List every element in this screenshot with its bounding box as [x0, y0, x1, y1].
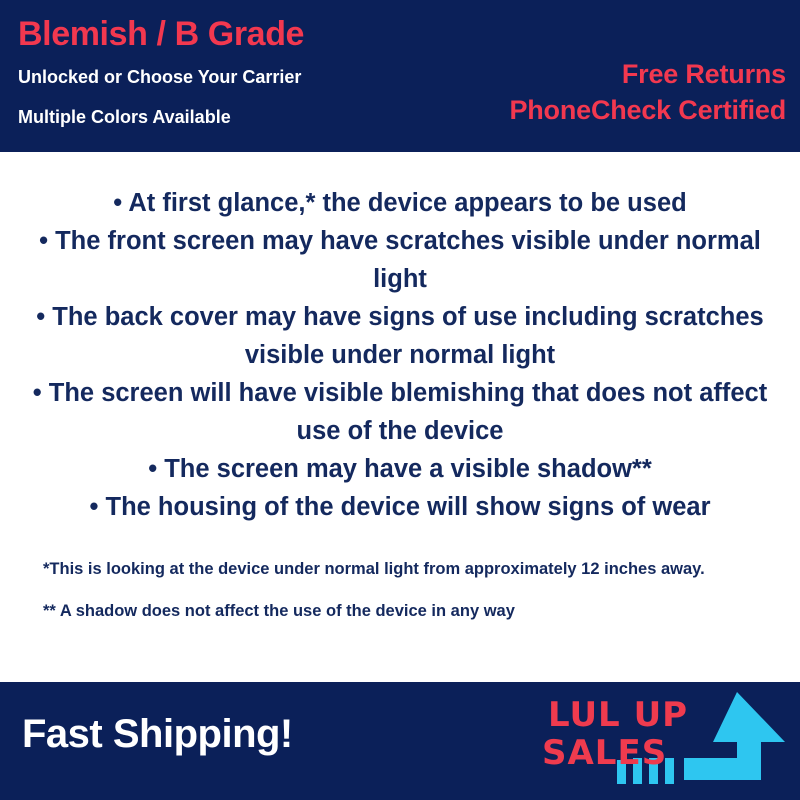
- fast-shipping-text: Fast Shipping!: [22, 709, 293, 759]
- banner-footer: Fast Shipping! LUL UP SALES: [0, 682, 800, 800]
- grade-title: Blemish / B Grade: [18, 14, 458, 54]
- footnotes-block: *This is looking at the device under nor…: [43, 557, 743, 641]
- lul-up-sales-logo: LUL UP SALES: [532, 684, 792, 798]
- free-returns-badge: Free Returns: [406, 56, 786, 92]
- footnote-single-asterisk: *This is looking at the device under nor…: [43, 557, 743, 581]
- logo-wordmark: LUL UP SALES: [542, 695, 688, 773]
- colors-subtitle: Multiple Colors Available: [18, 104, 458, 130]
- product-info-banner: Blemish / B Grade Unlocked or Choose You…: [0, 0, 800, 800]
- banner-header: Blemish / B Grade Unlocked or Choose You…: [0, 0, 800, 152]
- banner-body: • At first glance,* the device appears t…: [0, 152, 800, 682]
- header-left-block: Blemish / B Grade Unlocked or Choose You…: [18, 14, 458, 130]
- list-item: • The front screen may have scratches vi…: [28, 222, 772, 298]
- list-item: • The housing of the device will show si…: [28, 488, 772, 526]
- condition-bullet-list: • At first glance,* the device appears t…: [28, 184, 772, 526]
- list-item: • The screen will have visible blemishin…: [28, 374, 772, 450]
- logo-line-2: SALES: [542, 733, 667, 773]
- header-right-block: Free Returns PhoneCheck Certified: [406, 56, 786, 128]
- footnote-double-asterisk: ** A shadow does not affect the use of t…: [43, 599, 743, 623]
- carrier-subtitle: Unlocked or Choose Your Carrier: [18, 64, 458, 90]
- list-item: • The back cover may have signs of use i…: [28, 298, 772, 374]
- list-item: • At first glance,* the device appears t…: [28, 184, 772, 222]
- list-item: • The screen may have a visible shadow**: [28, 450, 772, 488]
- logo-line-1: LUL UP: [548, 695, 688, 735]
- phonecheck-certified-badge: PhoneCheck Certified: [406, 92, 786, 128]
